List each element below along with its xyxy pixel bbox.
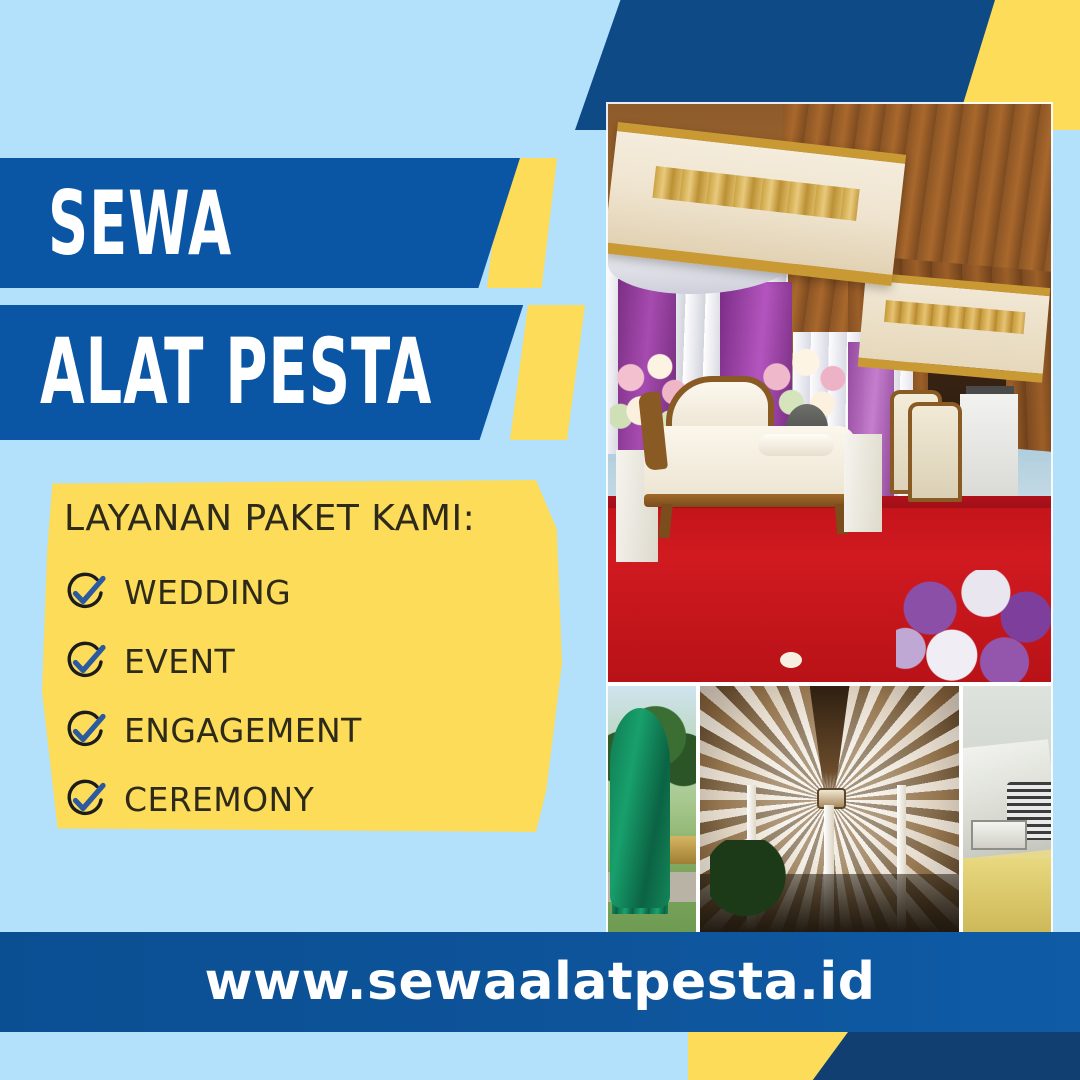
photo-strip [608, 686, 1051, 934]
service-label: ENGAGEMENT [124, 711, 362, 750]
check-circle-icon [62, 777, 108, 823]
check-circle-icon [62, 639, 108, 685]
green-canopy-photo [608, 686, 696, 934]
headline-wedge-2 [510, 305, 585, 440]
services-list: WEDDING EVENT ENGAGEME [62, 558, 542, 834]
service-label: CEREMONY [124, 780, 314, 819]
check-circle-icon [62, 570, 108, 616]
headline-line-2: ALAT PESTA [40, 320, 432, 425]
service-item-wedding: WEDDING [62, 558, 542, 627]
wedding-stage-photo [608, 104, 1051, 682]
service-item-engagement: ENGAGEMENT [62, 696, 542, 765]
service-label: EVENT [124, 642, 235, 681]
flyer-canvas: SEWA ALAT PESTA LAYANAN PAKET KAMI: WEDD… [0, 0, 1080, 1080]
services-title: LAYANAN PAKET KAMI: [64, 498, 475, 539]
headline-line-1: SEWA [48, 171, 232, 275]
services-panel: LAYANAN PAKET KAMI: WEDDING [42, 480, 562, 832]
service-label: WEDDING [124, 573, 291, 612]
service-item-ceremony: CEREMONY [62, 765, 542, 834]
catering-setup-photo [963, 686, 1051, 934]
tent-ceiling-photo [700, 686, 959, 934]
service-item-event: EVENT [62, 627, 542, 696]
headline-banner-1: SEWA [0, 158, 520, 288]
footer-band: www.sewaalatpesta.id [0, 932, 1080, 1032]
website-url[interactable]: www.sewaalatpesta.id [205, 952, 876, 1012]
photo-collage [608, 104, 1051, 934]
check-circle-icon [62, 708, 108, 754]
headline-banner-2: ALAT PESTA [0, 305, 545, 440]
